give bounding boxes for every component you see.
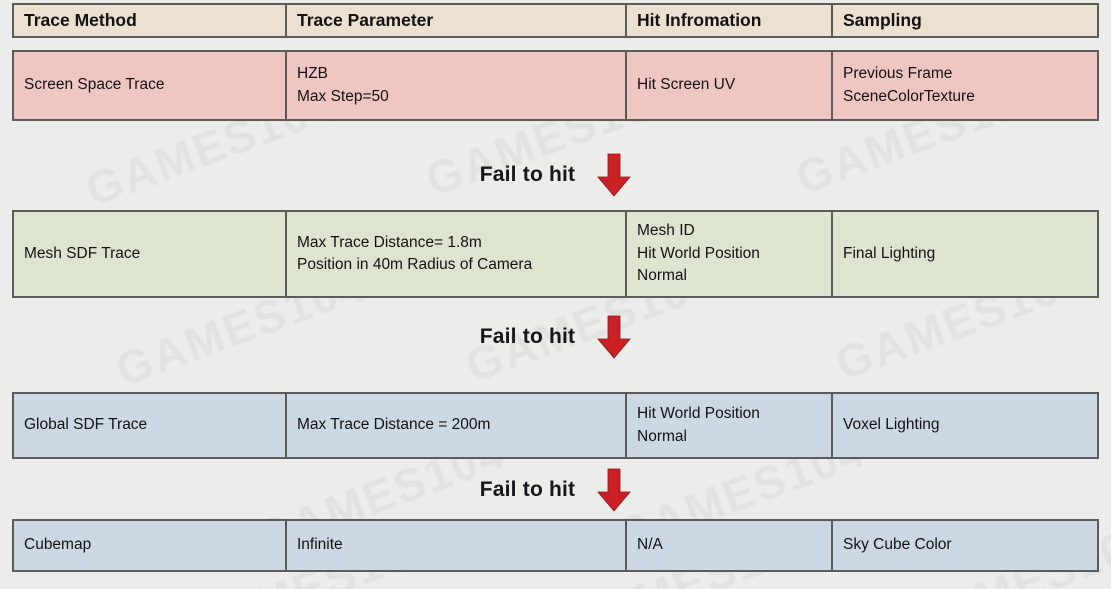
connector-fail-to-hit-3: Fail to hit: [0, 467, 1111, 513]
arrow-down-icon: [597, 315, 631, 359]
cell-trace-method: Cubemap: [14, 521, 287, 570]
column-header-label: Hit Infromation: [637, 8, 821, 33]
cell-sampling: Voxel Lighting: [833, 394, 1097, 457]
cell-sampling: Previous Frame SceneColorTexture: [833, 52, 1097, 119]
cell-text: Position in 40m Radius of Camera: [297, 254, 615, 276]
table-row-global-sdf-trace: Global SDF Trace Max Trace Distance = 20…: [12, 392, 1099, 459]
arrow-down-icon: [597, 468, 631, 512]
cell-text: Voxel Lighting: [843, 414, 1087, 436]
cell-text: Max Trace Distance= 1.8m: [297, 232, 615, 254]
column-header-sampling: Sampling: [833, 5, 1097, 36]
column-header-label: Trace Method: [24, 8, 275, 33]
column-header-trace-method: Trace Method: [14, 5, 287, 36]
trace-fallback-flow-diagram: Trace Method Trace Parameter Hit Infroma…: [0, 0, 1111, 589]
cell-trace-parameter: HZB Max Step=50: [287, 52, 627, 119]
connector-fail-to-hit-1: Fail to hit: [0, 150, 1111, 200]
connector-fail-to-hit-2: Fail to hit: [0, 312, 1111, 362]
cell-text: Infinite: [297, 534, 615, 556]
cell-text: Mesh ID: [637, 220, 821, 242]
cell-text: Mesh SDF Trace: [24, 243, 275, 265]
cell-text: Max Step=50: [297, 86, 615, 108]
cell-hit-information: Hit World Position Normal: [627, 394, 833, 457]
cell-hit-information: Mesh ID Hit World Position Normal: [627, 212, 833, 296]
cell-sampling: Final Lighting: [833, 212, 1097, 296]
cell-hit-information: N/A: [627, 521, 833, 570]
column-header-hit-information: Hit Infromation: [627, 5, 833, 36]
table-row-mesh-sdf-trace: Mesh SDF Trace Max Trace Distance= 1.8m …: [12, 210, 1099, 298]
table-row-cubemap: Cubemap Infinite N/A Sky Cube Color: [12, 519, 1099, 572]
cell-text: Final Lighting: [843, 243, 1087, 265]
cell-text: Max Trace Distance = 200m: [297, 414, 615, 436]
cell-text: Hit World Position: [637, 243, 821, 265]
connector-label: Fail to hit: [480, 478, 576, 502]
cell-trace-method: Global SDF Trace: [14, 394, 287, 457]
column-header-label: Trace Parameter: [297, 8, 615, 33]
cell-text: Screen Space Trace: [24, 74, 275, 96]
column-header-trace-parameter: Trace Parameter: [287, 5, 627, 36]
cell-text: SceneColorTexture: [843, 86, 1087, 108]
cell-trace-method: Mesh SDF Trace: [14, 212, 287, 296]
cell-text: N/A: [637, 534, 821, 556]
cell-text: Previous Frame: [843, 63, 1087, 85]
cell-text: Sky Cube Color: [843, 534, 1087, 556]
connector-label: Fail to hit: [480, 325, 576, 349]
cell-text: HZB: [297, 63, 615, 85]
cell-trace-method: Screen Space Trace: [14, 52, 287, 119]
cell-trace-parameter: Max Trace Distance = 200m: [287, 394, 627, 457]
connector-label: Fail to hit: [480, 163, 576, 187]
cell-trace-parameter: Infinite: [287, 521, 627, 570]
cell-sampling: Sky Cube Color: [833, 521, 1097, 570]
table-row-screen-space-trace: Screen Space Trace HZB Max Step=50 Hit S…: [12, 50, 1099, 121]
cell-text: Normal: [637, 426, 821, 448]
table-header-row: Trace Method Trace Parameter Hit Infroma…: [12, 3, 1099, 38]
cell-text: Global SDF Trace: [24, 414, 275, 436]
cell-text: Hit Screen UV: [637, 74, 821, 96]
cell-trace-parameter: Max Trace Distance= 1.8m Position in 40m…: [287, 212, 627, 296]
cell-hit-information: Hit Screen UV: [627, 52, 833, 119]
cell-text: Cubemap: [24, 534, 275, 556]
arrow-down-icon: [597, 153, 631, 197]
cell-text: Hit World Position: [637, 403, 821, 425]
column-header-label: Sampling: [843, 8, 1087, 33]
cell-text: Normal: [637, 265, 821, 287]
